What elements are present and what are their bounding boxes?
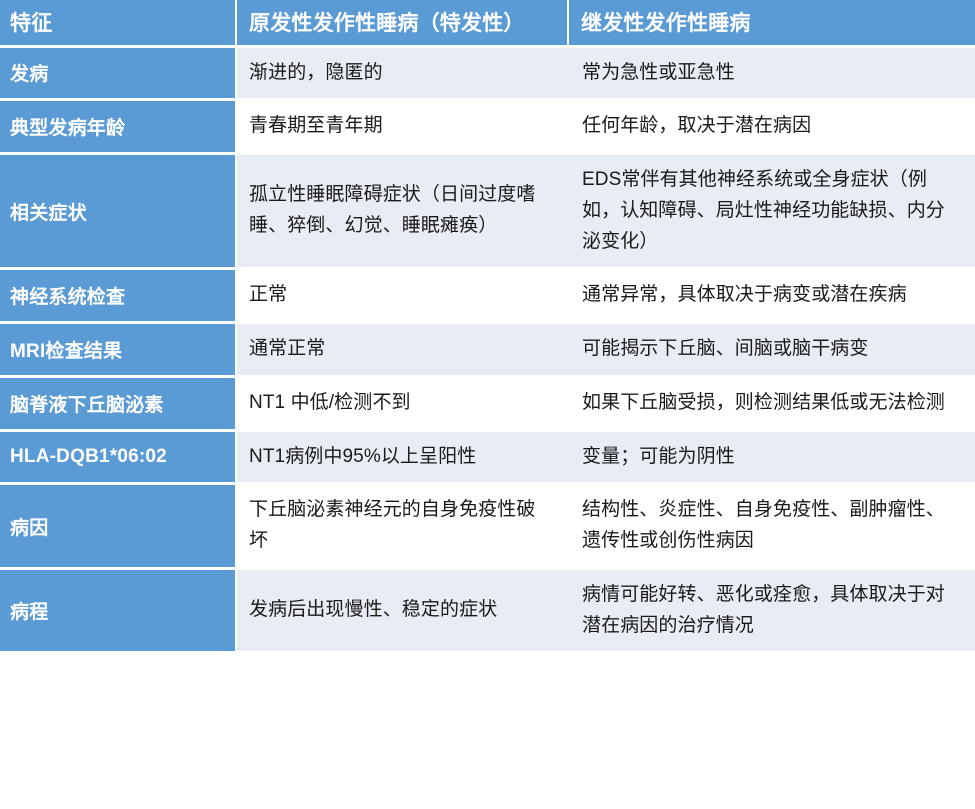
cell-secondary: 任何年龄，取决于潜在病因	[568, 100, 975, 154]
table-header: 特征 原发性发作性睡病（特发性） 继发性发作性睡病	[0, 0, 975, 46]
column-header-feature: 特征	[0, 0, 236, 46]
table-row: 发病 渐进的，隐匿的 常为急性或亚急性	[0, 46, 975, 100]
row-label: 神经系统检查	[0, 269, 236, 323]
narcolepsy-comparison-table: 特征 原发性发作性睡病（特发性） 继发性发作性睡病 发病 渐进的，隐匿的 常为急…	[0, 0, 975, 651]
cell-primary: 下丘脑泌素神经元的自身免疫性破坏	[236, 484, 568, 569]
row-label: HLA-DQB1*06:02	[0, 430, 236, 484]
table-row: 典型发病年龄 青春期至青年期 任何年龄，取决于潜在病因	[0, 100, 975, 154]
cell-primary: 正常	[236, 269, 568, 323]
column-header-primary: 原发性发作性睡病（特发性）	[236, 0, 568, 46]
table-row: 脑脊液下丘脑泌素 NT1 中低/检测不到 如果下丘脑受损，则检测结果低或无法检测	[0, 376, 975, 430]
table-row: 病程 发病后出现慢性、稳定的症状 病情可能好转、恶化或痊愈，具体取决于对潜在病因…	[0, 568, 975, 651]
column-header-secondary: 继发性发作性睡病	[568, 0, 975, 46]
cell-primary: NT1 中低/检测不到	[236, 376, 568, 430]
table-row: 神经系统检查 正常 通常异常，具体取决于病变或潜在疾病	[0, 269, 975, 323]
row-label: 典型发病年龄	[0, 100, 236, 154]
cell-primary: 通常正常	[236, 323, 568, 377]
row-label: 脑脊液下丘脑泌素	[0, 376, 236, 430]
cell-primary: 发病后出现慢性、稳定的症状	[236, 568, 568, 651]
cell-primary: 渐进的，隐匿的	[236, 46, 568, 100]
header-row: 特征 原发性发作性睡病（特发性） 继发性发作性睡病	[0, 0, 975, 46]
cell-secondary: 结构性、炎症性、自身免疫性、副肿瘤性、遗传性或创伤性病因	[568, 484, 975, 569]
cell-primary: 青春期至青年期	[236, 100, 568, 154]
cell-secondary: 如果下丘脑受损，则检测结果低或无法检测	[568, 376, 975, 430]
row-label: 病因	[0, 484, 236, 569]
table-body: 发病 渐进的，隐匿的 常为急性或亚急性 典型发病年龄 青春期至青年期 任何年龄，…	[0, 46, 975, 651]
cell-primary: 孤立性睡眠障碍症状（日间过度嗜睡、猝倒、幻觉、睡眠瘫痪）	[236, 154, 568, 269]
table-row: HLA-DQB1*06:02 NT1病例中95%以上呈阳性 变量；可能为阴性	[0, 430, 975, 484]
cell-secondary: 病情可能好转、恶化或痊愈，具体取决于对潜在病因的治疗情况	[568, 568, 975, 651]
cell-secondary: EDS常伴有其他神经系统或全身症状（例如，认知障碍、局灶性神经功能缺损、内分泌变…	[568, 154, 975, 269]
table-row: 相关症状 孤立性睡眠障碍症状（日间过度嗜睡、猝倒、幻觉、睡眠瘫痪） EDS常伴有…	[0, 154, 975, 269]
row-label: 发病	[0, 46, 236, 100]
cell-secondary: 变量；可能为阴性	[568, 430, 975, 484]
row-label: 病程	[0, 568, 236, 651]
row-label: MRI检查结果	[0, 323, 236, 377]
cell-secondary: 可能揭示下丘脑、间脑或脑干病变	[568, 323, 975, 377]
table-row: MRI检查结果 通常正常 可能揭示下丘脑、间脑或脑干病变	[0, 323, 975, 377]
cell-secondary: 常为急性或亚急性	[568, 46, 975, 100]
cell-secondary: 通常异常，具体取决于病变或潜在疾病	[568, 269, 975, 323]
cell-primary: NT1病例中95%以上呈阳性	[236, 430, 568, 484]
table-row: 病因 下丘脑泌素神经元的自身免疫性破坏 结构性、炎症性、自身免疫性、副肿瘤性、遗…	[0, 484, 975, 569]
row-label: 相关症状	[0, 154, 236, 269]
